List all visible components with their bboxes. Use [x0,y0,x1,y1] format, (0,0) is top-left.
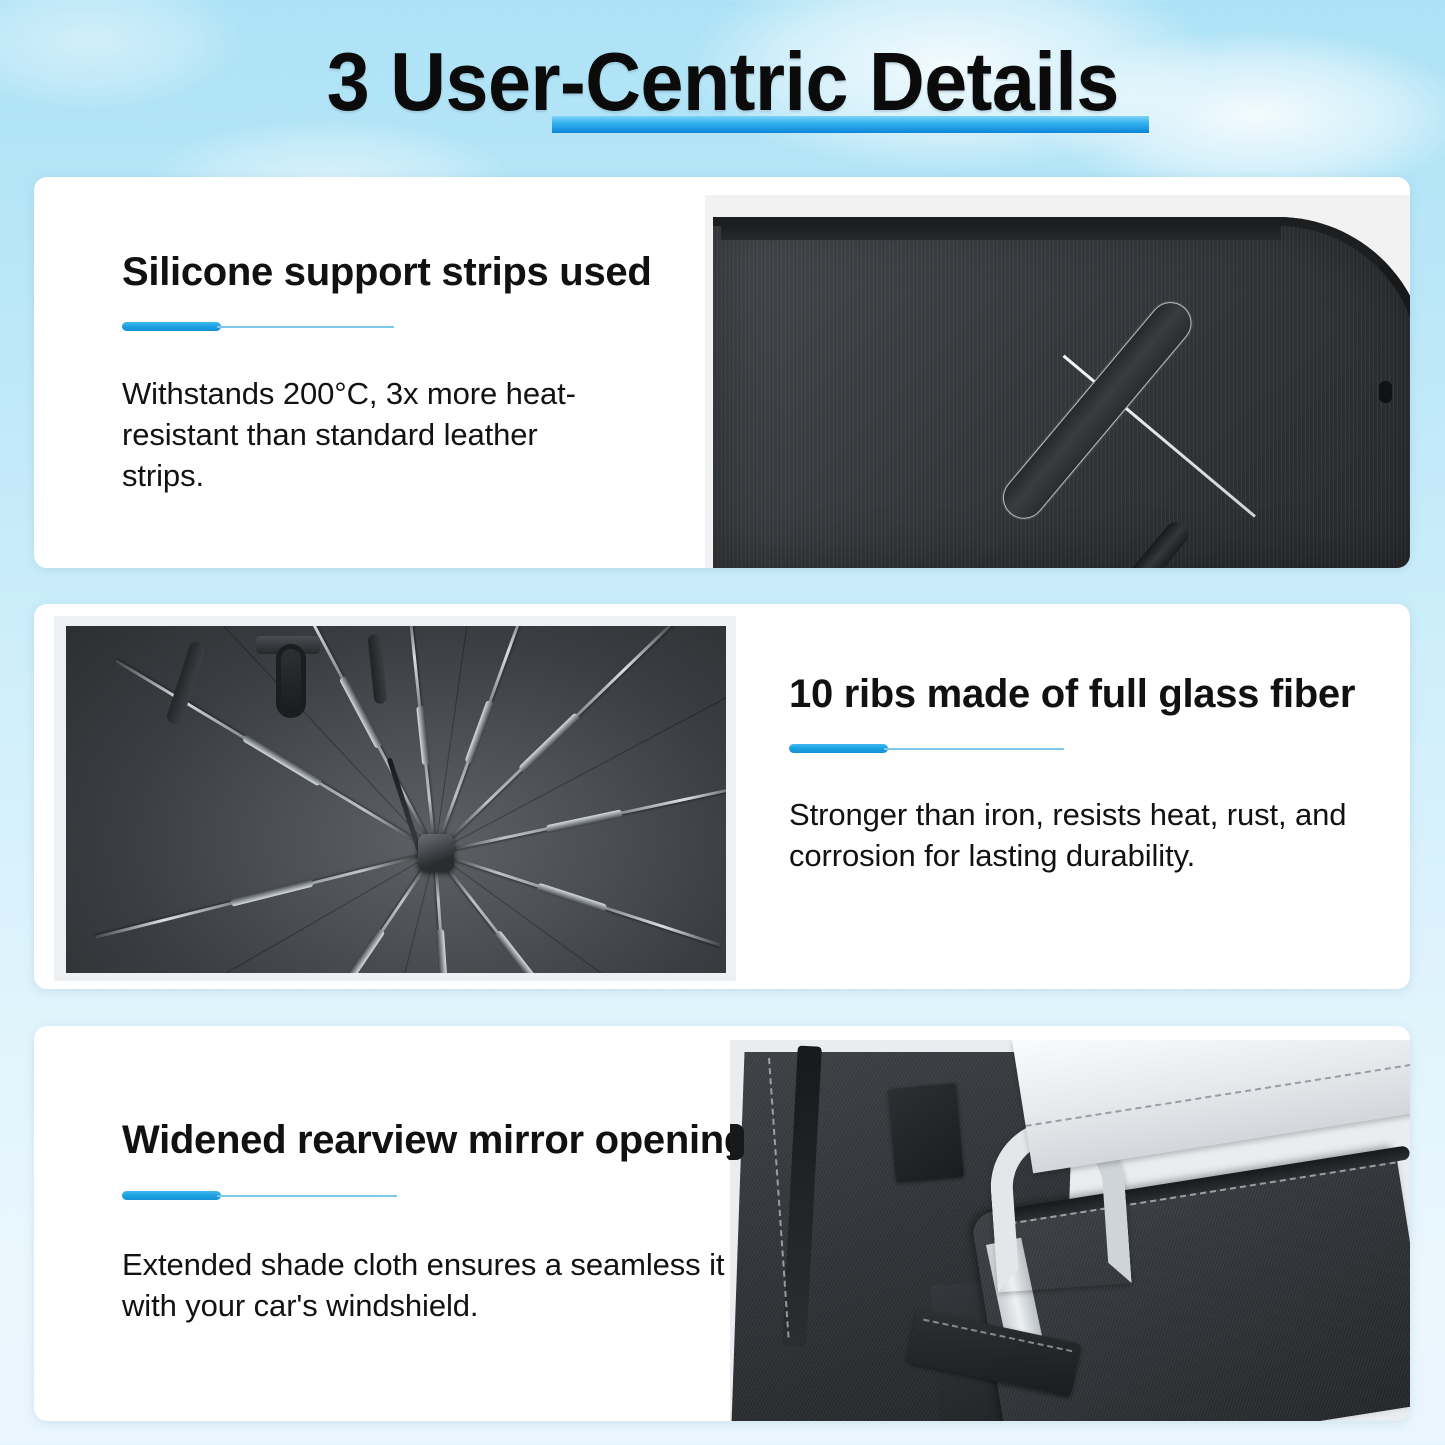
feature-card-2-text: 10 ribs made of full glass fiber Stronge… [789,604,1410,989]
umbrella-ribs-photo [54,616,736,981]
velcro-patch [888,1083,964,1183]
page-header: 3 User-Centric Details [0,38,1445,125]
mirror-opening-photo [730,1040,1410,1421]
shade-hem [721,223,1281,240]
handle-loop [276,644,306,718]
rib-7 [435,851,721,947]
title-underline-bar [552,116,1149,133]
left-edge-nub [730,1124,744,1160]
feature-card-1-text: Silicone support strips used Withstands … [122,177,732,568]
handle-bar-right [367,634,387,705]
divider-line [217,326,394,328]
divider-line [884,748,1064,750]
feature-card-2: 10 ribs made of full glass fiber Stronge… [34,604,1410,989]
divider-line [217,1195,397,1197]
page-title: 3 User-Centric Details [326,38,1118,125]
sunshade-corner-photo [705,195,1410,568]
feature-card-3-text: Widened rearview mirror opening Extended… [122,1026,732,1421]
feature-card-3-headline: Widened rearview mirror opening [122,1118,748,1162]
feature-card-1-body: Withstands 200°C, 3x more heat-resistant… [122,373,592,497]
canopy-seam [106,852,436,973]
title-wrap: 3 User-Centric Details [297,38,1149,125]
shade-fabric-panel [713,217,1410,568]
feature-card-2-headline: 10 ribs made of full glass fiber [789,672,1355,716]
rib-3 [408,626,437,853]
umbrella-hub [418,834,454,872]
divider-bar [789,744,888,753]
rib-5 [434,626,673,854]
feature-card-2-body: Stronger than iron, resists heat, rust, … [789,794,1389,876]
rib-6 [435,785,726,854]
canopy-seam [435,852,703,973]
feature-card-1-headline: Silicone support strips used [122,250,651,294]
feature-card-1-divider [122,322,394,331]
divider-bar [122,322,221,331]
feature-card-3: Widened rearview mirror opening Extended… [34,1026,1410,1421]
feature-card-2-divider [789,744,1064,753]
feature-card-1: Silicone support strips used Withstands … [34,177,1410,568]
umbrella-canopy [66,626,726,973]
feature-card-3-divider [122,1191,397,1200]
rib-4 [434,626,528,853]
feature-card-3-body: Extended shade cloth ensures a seamless … [122,1244,742,1326]
corner-nub [1379,381,1392,403]
divider-bar [122,1191,221,1200]
